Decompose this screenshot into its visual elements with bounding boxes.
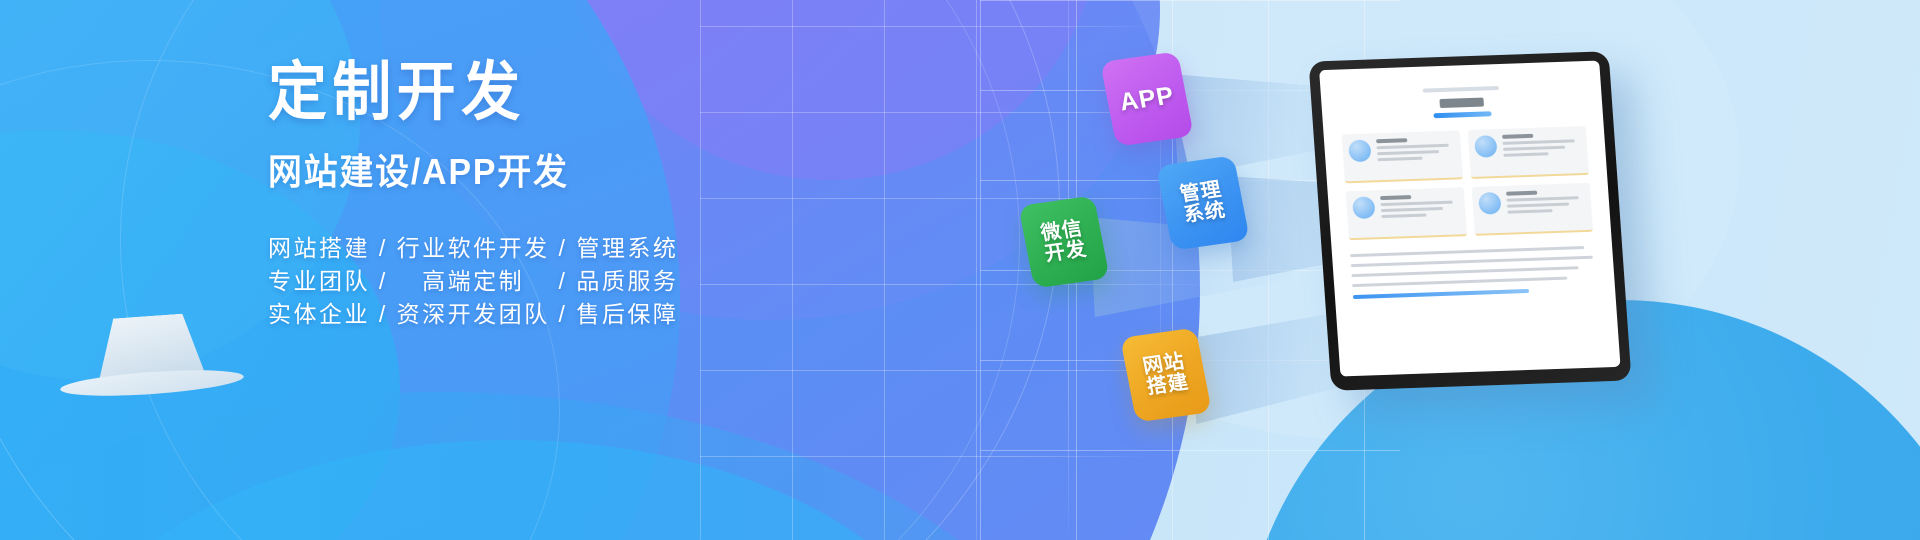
mockup-card-heading xyxy=(1376,138,1407,143)
service-tile-wechat-development[interactable]: 微信 开发 xyxy=(1018,195,1109,288)
mockup-card-icon xyxy=(1348,139,1372,162)
monitor-illustration xyxy=(1308,51,1631,391)
feature-list-item: 专业团队 / 高端定制 / 品质服务 xyxy=(268,265,888,298)
mockup-paragraph-line xyxy=(1351,266,1578,277)
feature-list: 网站搭建 / 行业软件开发 / 管理系统 专业团队 / 高端定制 / 品质服务 … xyxy=(268,232,888,331)
mockup-card-line xyxy=(1507,203,1570,208)
feature-list-item: 网站搭建 / 行业软件开发 / 管理系统 xyxy=(268,232,888,265)
mockup-card xyxy=(1342,130,1463,183)
mockup-card-line xyxy=(1503,146,1566,151)
page-title: 定制开发 xyxy=(268,60,838,124)
mockup-card-heading xyxy=(1506,191,1537,196)
mockup-card xyxy=(1468,126,1589,179)
mockup-underline xyxy=(1433,111,1491,118)
mockup-paragraph-line xyxy=(1350,246,1584,257)
mockup-card-text xyxy=(1376,137,1456,165)
mockup-card-grid xyxy=(1342,126,1593,240)
monitor-screen xyxy=(1319,60,1620,376)
mockup-card-icon xyxy=(1352,196,1376,219)
service-tile-wechat-line2: 开发 xyxy=(1043,239,1089,265)
mockup-card xyxy=(1472,183,1593,236)
page-subtitle: 网站建设/APP开发 xyxy=(268,154,851,190)
promo-banner: 定制开发 网站建设/APP开发 网站搭建 / 行业软件开发 / 管理系统 专业团… xyxy=(0,0,1920,540)
mockup-card-line xyxy=(1381,214,1426,219)
mockup-card-text xyxy=(1380,193,1460,221)
mockup-card-line xyxy=(1381,207,1444,212)
mockup-kicker xyxy=(1423,86,1499,93)
mockup-card xyxy=(1346,187,1467,240)
service-tile-app-line1: APP xyxy=(1118,82,1177,115)
monitor-bezel xyxy=(1308,51,1631,391)
service-tile-mgmt-line2: 系统 xyxy=(1182,200,1228,226)
mockup-paragraph-line xyxy=(1352,277,1567,287)
mockup-card-line xyxy=(1507,196,1579,201)
service-tile-management-system[interactable]: 管理 系统 xyxy=(1156,155,1250,250)
mockup-card-line xyxy=(1503,152,1548,157)
mockup-card-heading xyxy=(1502,134,1533,139)
feature-list-item: 实体企业 / 资深开发团队 / 售后保障 xyxy=(268,298,888,331)
mockup-card-icon xyxy=(1474,135,1498,158)
service-tile-website-building[interactable]: 网站 搭建 xyxy=(1120,327,1212,422)
headline-copy-block: 定制开发 网站建设/APP开发 网站搭建 / 行业软件开发 / 管理系统 专业团… xyxy=(268,60,888,331)
service-tile-web-line2: 搭建 xyxy=(1145,372,1191,398)
mockup-card-text xyxy=(1502,132,1582,160)
mockup-card-line xyxy=(1381,201,1453,206)
mockup-paragraph-line xyxy=(1351,256,1593,267)
service-tile-app[interactable]: APP xyxy=(1100,51,1194,146)
mockup-card-icon xyxy=(1478,192,1502,215)
mockup-title xyxy=(1439,98,1484,109)
mockup-body-text xyxy=(1350,246,1597,299)
mockup-accent-bar xyxy=(1353,289,1529,299)
mockup-card-line xyxy=(1377,150,1440,155)
mockup-card-text xyxy=(1506,189,1586,217)
mockup-card-line xyxy=(1377,157,1422,162)
mockup-card-heading xyxy=(1380,195,1411,200)
mockup-card-line xyxy=(1507,209,1552,214)
website-mockup xyxy=(1319,60,1620,376)
mockup-card-line xyxy=(1503,139,1575,144)
mockup-card-line xyxy=(1377,144,1449,149)
